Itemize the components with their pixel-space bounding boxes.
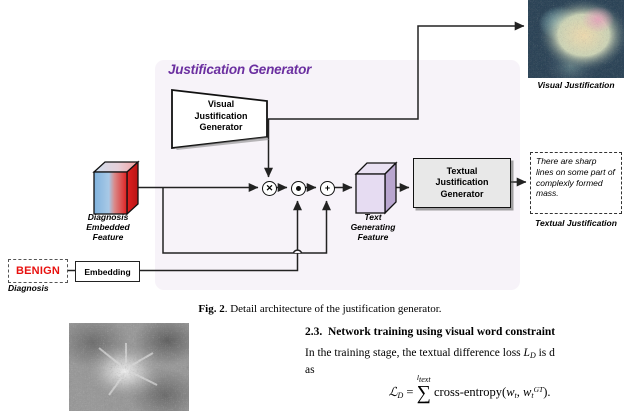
diagnosis-embedded-feature-cube xyxy=(92,160,140,216)
vjg-label: Visual Justification Generator xyxy=(178,99,264,134)
diagnosis-caption: Diagnosis xyxy=(8,283,66,293)
text-generating-feature-caption: Text Generating Feature xyxy=(330,212,416,242)
textual-justification-generator-block[interactable]: Textual Justification Generator xyxy=(413,158,511,208)
visual-justification-caption: Visual Justification xyxy=(520,80,632,90)
section-heading: 2.3. Network training using visual word … xyxy=(305,326,640,338)
formula-equals: = xyxy=(406,385,413,399)
formula-w2-sup: GT xyxy=(534,385,544,394)
visual-justification-generator-block[interactable]: Visual Justification Generator xyxy=(168,88,273,150)
formula-w1: w xyxy=(506,385,514,399)
dot-product-operator xyxy=(291,181,306,196)
formula-tail: ). xyxy=(543,385,550,399)
tgf-cap-line2: Generating xyxy=(351,222,396,232)
paper-column: 2.3. Network training using visual word … xyxy=(305,326,640,405)
figure-caption-label: Fig. 2 xyxy=(198,303,224,315)
section-paragraph-cont: as xyxy=(305,363,640,378)
visual-justification-image xyxy=(528,0,624,78)
diagnosis-value-badge: BENIGN xyxy=(8,259,68,283)
loss-formula: ℒD = ltext ∑ cross-entropy(wt, wtGT). xyxy=(297,382,640,405)
tjg-label-line2: Justification xyxy=(435,177,488,187)
sigma-limit-sub: text xyxy=(419,375,431,384)
dot-glyph xyxy=(296,186,301,191)
section-number: 2.3. xyxy=(305,326,322,338)
formula-lhs-sub: D xyxy=(398,391,404,400)
sigma-glyph: ∑ xyxy=(417,382,431,404)
formula-sigma: ltext ∑ xyxy=(417,382,431,405)
section-title: Network training using visual word const… xyxy=(328,326,555,338)
add-operator: + xyxy=(320,181,335,196)
formula-sigma-limit: ltext xyxy=(417,373,431,384)
vjg-label-line3: Generator xyxy=(199,122,242,132)
mammogram-image xyxy=(68,322,190,412)
def-cap-line1: Diagnosis xyxy=(88,212,129,222)
formula-lhs: ℒ xyxy=(389,385,398,399)
section-paragraph: In the training stage, the textual diffe… xyxy=(305,346,640,363)
formula-rhs: cross-entropy( xyxy=(434,385,506,399)
paragraph-part2: is d xyxy=(536,347,555,359)
multiply-operator: ✕ xyxy=(262,181,277,196)
embedding-block[interactable]: Embedding xyxy=(75,261,140,282)
multiply-glyph: ✕ xyxy=(266,184,274,193)
add-glyph: + xyxy=(325,184,330,193)
text-generating-feature-cube xyxy=(354,160,398,216)
paragraph-part1: In the training stage, the textual diffe… xyxy=(305,347,524,359)
vjg-label-line2: Justification xyxy=(194,111,247,121)
def-cap-line3: Feature xyxy=(93,232,124,242)
diagnosis-embedded-feature-caption: Diagnosis Embedded Feature xyxy=(62,212,154,242)
figure-caption-text: . Detail architecture of the justificati… xyxy=(225,303,442,315)
tjg-label-line3: Generator xyxy=(440,189,483,199)
tjg-label-line1: Textual xyxy=(447,166,478,176)
tgf-cap-line1: Text xyxy=(364,212,381,222)
textual-justification-box: There are sharp lines on some part of co… xyxy=(530,152,622,214)
def-cap-line2: Embedded xyxy=(86,222,129,232)
vjg-label-line1: Visual xyxy=(208,99,234,109)
figure-caption: Fig. 2. Detail architecture of the justi… xyxy=(118,303,522,315)
justification-generator-title: Justification Generator xyxy=(168,62,418,77)
tjg-label: Textual Justification Generator xyxy=(435,166,488,201)
tgf-cap-line3: Feature xyxy=(358,232,389,242)
textual-justification-caption: Textual Justification xyxy=(520,218,632,228)
